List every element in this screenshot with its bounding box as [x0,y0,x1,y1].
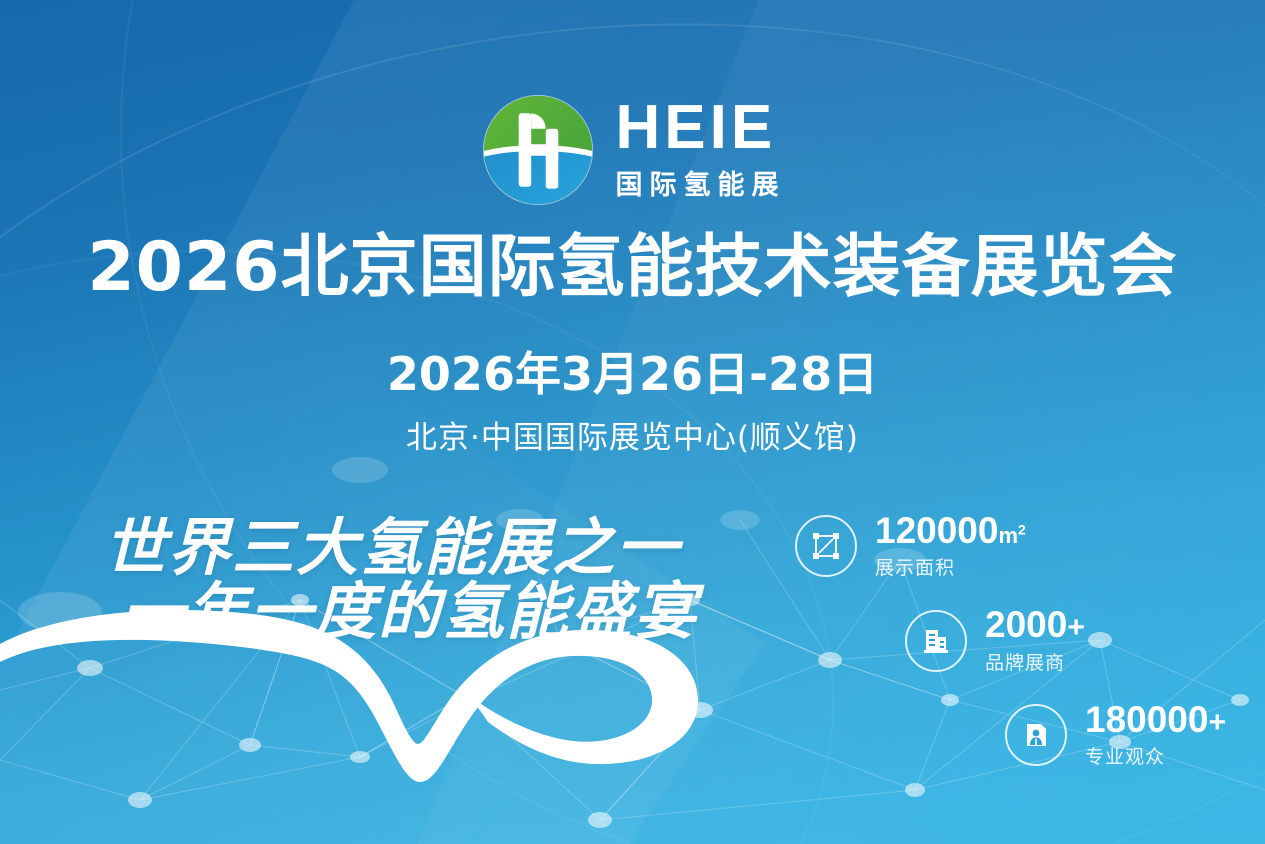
logo-subtitle: 国际氢能展 [616,163,786,202]
stat-text-block: 120000m2 展示面积 [875,512,1026,580]
stat-value: 2000+ [985,606,1085,644]
hydrogen-expo-poster: HEIE 国际氢能展 2026北京国际氢能技术装备展览会 2026年3月26日-… [0,0,1265,844]
logo-lockup: HEIE 国际氢能展 [0,92,1265,208]
stat-unit: m2 [998,523,1025,548]
stat-item-exhibition-area: 120000m2 展示面积 [795,512,1265,580]
event-venue: 北京·中国国际展览中心(顺义馆) [0,412,1265,457]
stat-number: 120000 [875,510,998,551]
stat-label: 品牌展商 [985,648,1085,675]
white-ribbon-swoosh [0,600,700,844]
poster-headline: 2026北京国际氢能技术装备展览会 [0,234,1265,302]
logo-wordmark: HEIE [616,98,777,158]
slogan-line-1: 世界三大氢能展之一 [104,511,680,584]
stat-suffix: + [1208,706,1226,739]
stat-item-brand-exhibitors: 2000+ 品牌展商 [905,606,1265,674]
stat-suffix: + [1067,611,1085,644]
stat-number: 180000 [1085,699,1208,740]
area-measure-icon [795,515,857,577]
stat-item-professional-visitors: 180000+ 专业观众 [1005,701,1265,769]
stat-label: 专业观众 [1085,742,1226,769]
stat-text-block: 180000+ 专业观众 [1085,701,1226,769]
stat-value: 120000m2 [875,512,1026,550]
stats-list: 120000m2 展示面积 [795,512,1265,795]
stat-label: 展示面积 [875,553,1026,580]
heie-circle-h-logo-icon [480,92,596,208]
building-icon [905,610,967,672]
stat-number: 2000 [985,604,1067,645]
visitor-badge-icon [1005,704,1067,766]
logo-text-block: HEIE 国际氢能展 [616,98,786,203]
stat-text-block: 2000+ 品牌展商 [985,606,1085,674]
event-date: 2026年3月26日-28日 [0,350,1265,398]
stat-value: 180000+ [1085,701,1226,739]
